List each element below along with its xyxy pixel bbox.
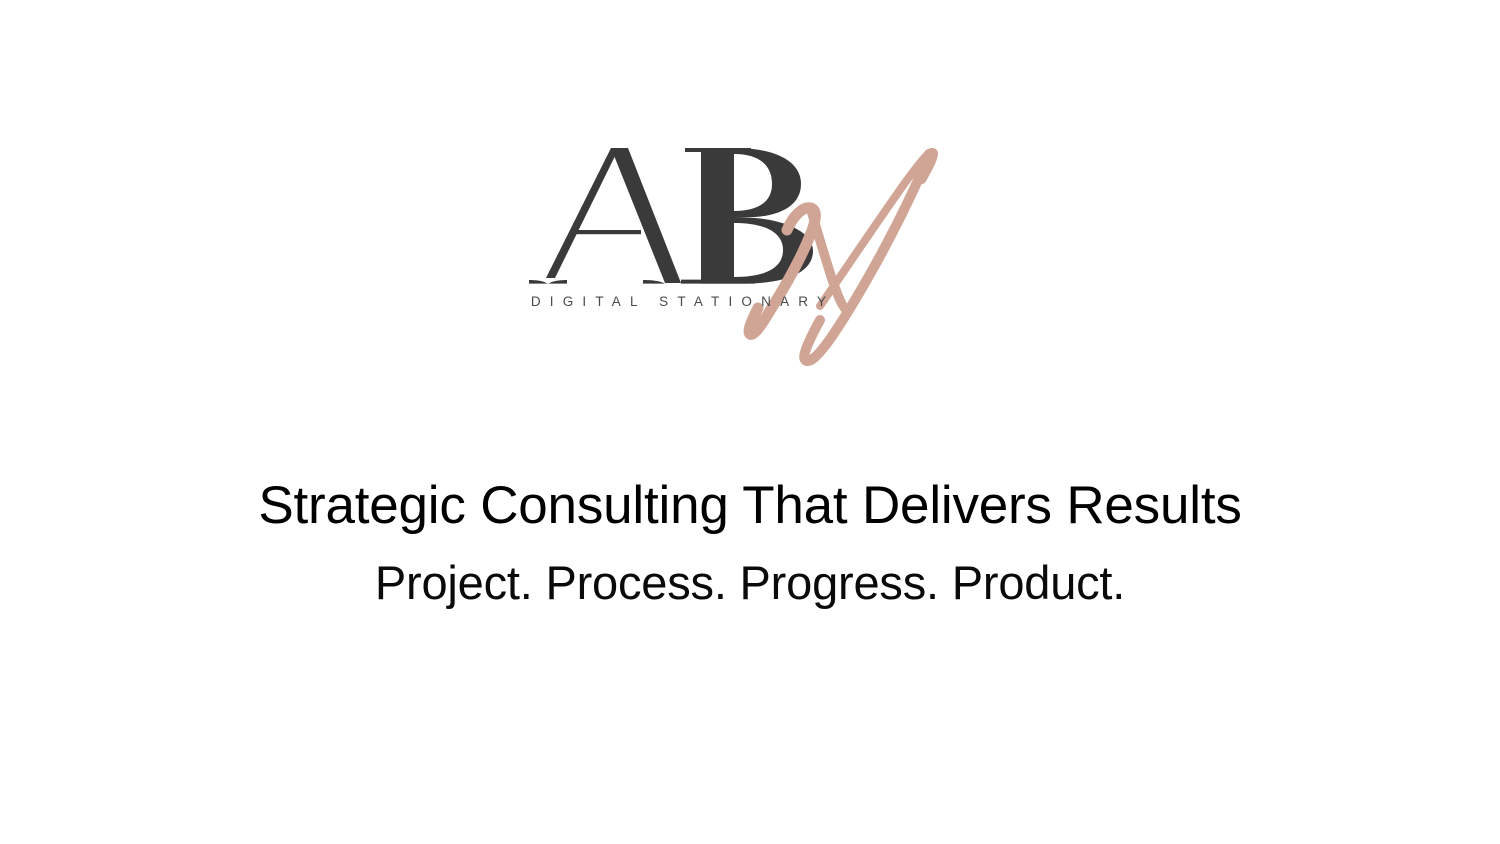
brand-logo: DIGITAL STATIONARY AB N DIGITAL STATIONA… (515, 118, 985, 368)
logo-block: DIGITAL STATIONARY AB N DIGITAL STATIONA… (0, 118, 1500, 378)
logo-tagline: DIGITAL STATIONARY (531, 294, 835, 309)
monogram-letters-icon (529, 148, 813, 284)
title-slide: DIGITAL STATIONARY AB N DIGITAL STATIONA… (0, 0, 1500, 844)
slide-text-block: Strategic Consulting That Delivers Resul… (0, 476, 1500, 610)
page-title: Strategic Consulting That Delivers Resul… (0, 476, 1500, 535)
page-subtitle: Project. Process. Progress. Product. (0, 556, 1500, 610)
logo-graphic: DIGITAL STATIONARY (515, 118, 985, 368)
